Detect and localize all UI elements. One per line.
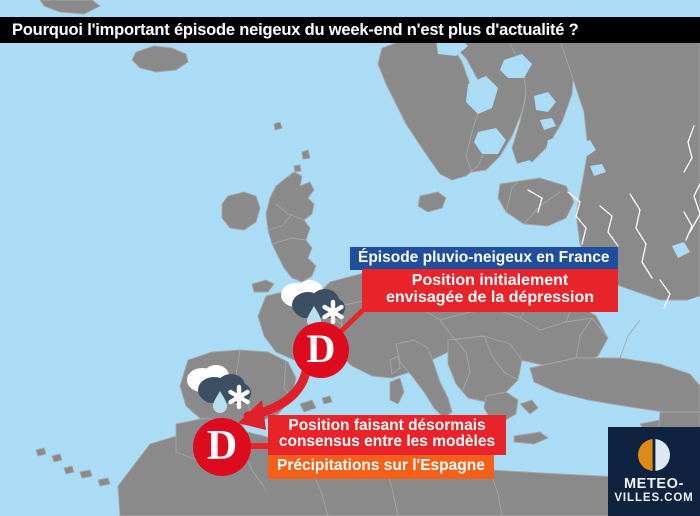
low-pressure-letter: D	[207, 425, 237, 467]
headline-bar: Pourquoi l'important épisode neigeux du …	[0, 17, 700, 43]
label-episode-pluvio-neigeux: Épisode pluvio-neigeux en France	[350, 247, 618, 270]
label-position-consensus: Position faisant désormais consensus ent…	[268, 415, 506, 455]
label-precipitations-espagne: Précipitations sur l'Espagne	[268, 455, 494, 479]
weather-icon-spain-rain-snow	[182, 360, 254, 418]
sun-moon-logo-icon	[637, 438, 671, 472]
meteo-villes-logo[interactable]: METEO- VILLES.COM	[608, 427, 700, 516]
low-pressure-marker-france[interactable]: D	[293, 322, 349, 378]
logo-text-line2: VILLES.COM	[614, 492, 693, 505]
label-position-initiale: Position initialement envisagée de la dé…	[362, 269, 618, 312]
low-pressure-letter: D	[307, 329, 336, 369]
weather-map-screenshot: D D Épisode pluvio-neigeux en France Pos…	[0, 0, 700, 516]
logo-text-line1: METEO-	[624, 477, 684, 492]
headline-text: Pourquoi l'important épisode neigeux du …	[0, 21, 579, 40]
low-pressure-marker-spain[interactable]: D	[193, 418, 251, 476]
